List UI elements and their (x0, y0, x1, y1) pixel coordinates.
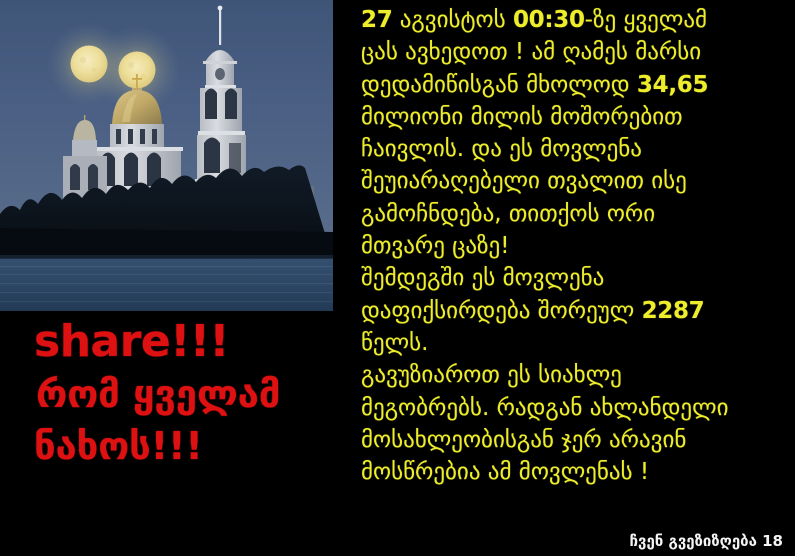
message-text: შემდეგში ეს მოვლენა (361, 265, 604, 291)
photo-illustration (0, 0, 333, 311)
message-line: შეუიარაღებელი თვალით ისე (361, 165, 791, 197)
message-emphasis: 27 (361, 7, 392, 33)
message-line: წელს. (361, 327, 791, 359)
message-body: 27 აგვისტოს 00:30-ზე ყველამცას ავხედოთ !… (361, 4, 791, 488)
message-emphasis: 34,65 (637, 72, 708, 98)
message-emphasis: 00:30 (513, 7, 585, 33)
message-emphasis: 2287 (642, 298, 705, 324)
message-line: დაფიქსირდება შორეულ 2287 (361, 295, 791, 327)
share-headline-ka-line2: ნახოს!!! (0, 420, 340, 472)
message-text: -ზე ყველამ (585, 7, 707, 33)
message-line: მთვარე ცაზე! (361, 230, 791, 262)
message-text: დედამიწისგან მხოლოდ (361, 72, 637, 98)
message-line: მილიონი მილის მოშორებით (361, 101, 791, 133)
message-line: ჩაივლის. და ეს მოვლენა (361, 133, 791, 165)
message-text: მილიონი მილის მოშორებით (361, 104, 683, 130)
message-text: გამოჩნდება, თითქოს ორი (361, 201, 655, 227)
share-headline-en: share!!! (0, 316, 340, 368)
message-line: შემდეგში ეს მოვლენა (361, 262, 791, 294)
message-text: ჩაივლის. და ეს მოვლენა (361, 136, 642, 162)
lake (0, 258, 333, 311)
message-line: ცას ავხედოთ ! ამ ღამეს მარსი (361, 36, 791, 68)
poster-canvas: share!!! რომ ყველამ ნახოს!!! 27 აგვისტოს… (0, 0, 795, 556)
share-call-to-action: share!!! რომ ყველამ ნახოს!!! (0, 316, 340, 486)
full-moon-left (71, 46, 108, 83)
message-line: 27 აგვისტოს 00:30-ზე ყველამ (361, 4, 791, 36)
share-headline-ka-line1: რომ ყველამ (0, 368, 340, 420)
message-text: ცას ავხედოთ ! ამ ღამეს მარსი (361, 39, 701, 65)
message-text: აგვისტოს (392, 7, 513, 33)
message-text: მოსახლეობისგან ჯერ არავინ (361, 427, 686, 453)
message-text: გავუზიაროთ ეს სიახლე (361, 362, 622, 388)
message-line: მოსახლეობისგან ჯერ არავინ (361, 424, 791, 456)
message-line: მოსწრებია ამ მოვლენას ! (361, 456, 791, 488)
night-church-photo (0, 0, 333, 311)
message-text: დაფიქსირდება შორეულ (361, 298, 642, 324)
message-text: შეუიარაღებელი თვალით ისე (361, 168, 687, 194)
message-text: მეგობრებს. რადგან ახლანდელი (361, 395, 729, 421)
message-line: დედამიწისგან მხოლოდ 34,65 (361, 69, 791, 101)
message-text: მოსწრებია ამ მოვლენას ! (361, 459, 649, 485)
message-line: გავუზიაროთ ეს სიახლე (361, 359, 791, 391)
message-text: წელს. (361, 330, 428, 356)
message-line: გამოჩნდება, თითქოს ორი (361, 198, 791, 230)
credit-watermark: ჩვენ გვეზიზღება 18 (629, 532, 783, 550)
message-text: მთვარე ცაზე! (361, 233, 509, 259)
message-line: მეგობრებს. რადგან ახლანდელი (361, 392, 791, 424)
